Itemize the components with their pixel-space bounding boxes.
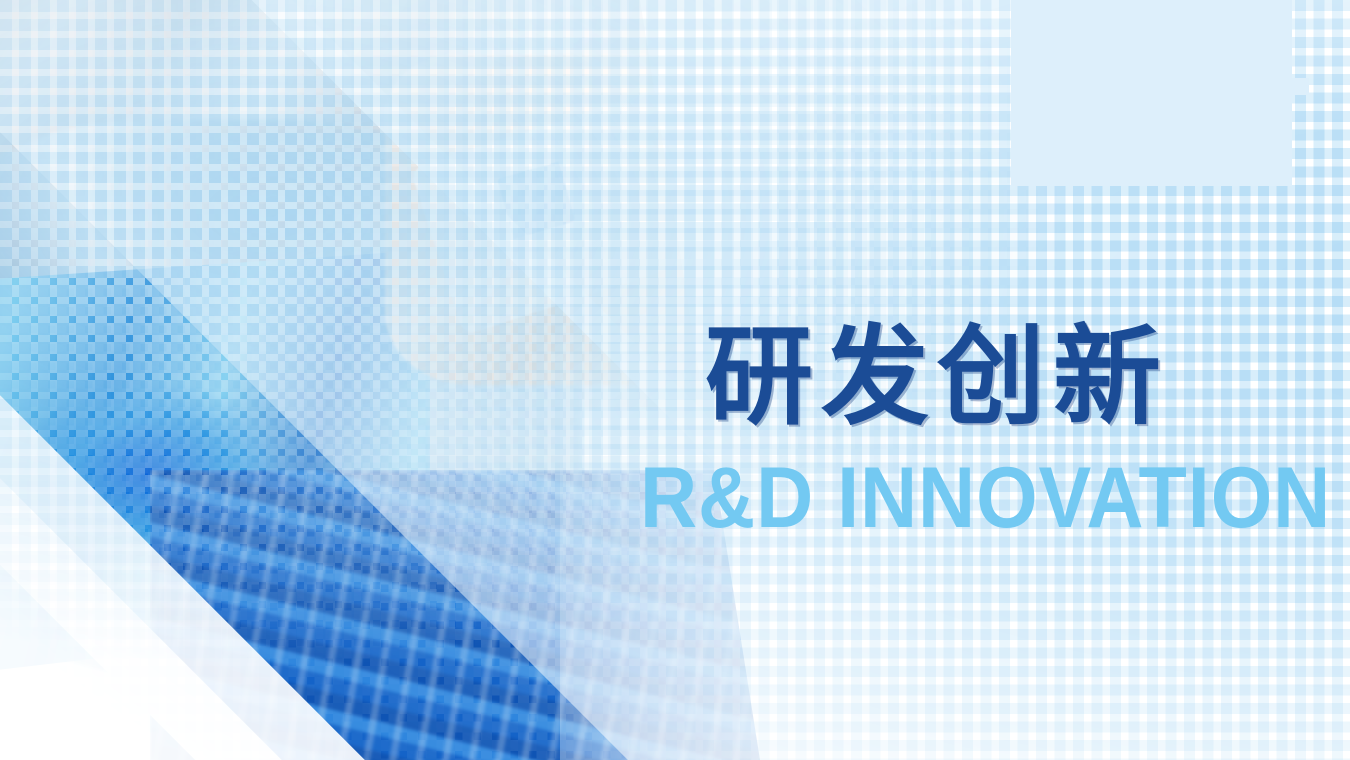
logo-panel-chip xyxy=(1292,78,1309,95)
page-title: 研发创新 xyxy=(705,322,1169,434)
logo-panel: 恒瑞 xyxy=(1011,0,1292,186)
page-subtitle: R&D INNOVATION xyxy=(640,455,1331,541)
banner-image: 恒瑞 研发创新 R&D INNOVATION xyxy=(0,0,1350,760)
